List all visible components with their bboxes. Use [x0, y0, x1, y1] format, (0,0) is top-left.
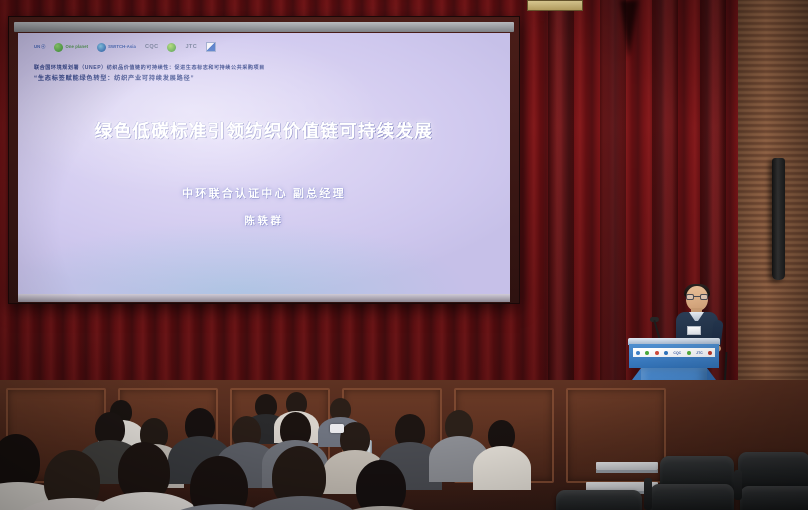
podium-logo-mark-1 [636, 351, 640, 355]
audience-member [246, 496, 358, 510]
podium-logo-mark-3 [655, 351, 659, 355]
audience-member [92, 492, 200, 510]
unep-logo-label: UN ⓔ [34, 45, 45, 49]
presenter-name-badge [687, 326, 701, 335]
podium-logo-mark-5 [687, 351, 691, 355]
projection-screen-top-bar [14, 22, 514, 32]
auditorium-seat [740, 486, 808, 510]
cqc-logo-label: CQC [145, 44, 158, 50]
auditorium-seat [556, 490, 642, 510]
seat-armrest [734, 470, 742, 500]
audience-member [473, 446, 531, 490]
auditorium-seat [650, 484, 734, 510]
slide-speaker-organization: 中环联合认证中心 副总经理 [18, 185, 510, 201]
seat-desk-tray [596, 462, 658, 470]
seat-armrest [644, 478, 652, 510]
podium-logo-jtc-label: JTC [696, 351, 703, 355]
eyeglass-lens-left [686, 294, 694, 300]
podium-logo-mark-6 [708, 351, 712, 355]
jtc-logo-label: JTC [185, 44, 197, 50]
un-environment-programme-logo: UN ⓔ [34, 45, 45, 49]
hair-clip [330, 424, 344, 433]
wall-speaker-icon [772, 158, 785, 280]
audience [0, 372, 600, 510]
switch-asia-logo: SWITCH-Asia [97, 43, 136, 52]
switch-asia-globe-icon [97, 43, 106, 52]
projection-screen-surface: UN ⓔ One planet SWITCH-Asia CQC JTC 联合国环… [18, 33, 510, 296]
eyeglasses-icon [686, 294, 708, 300]
one-planet-network-logo: One planet [54, 43, 88, 52]
switch-asia-logo-label: SWITCH-Asia [108, 45, 136, 49]
audience-member [356, 460, 406, 510]
wall-plaque [527, 0, 583, 11]
podium-logo-mark-4 [664, 351, 668, 355]
slide-main-title: 绿色低碳标准引领纺织价值链可持续发展 [18, 118, 510, 143]
podium-logo-band: CQC JTC [633, 348, 715, 357]
eyeglass-lens-right [700, 294, 708, 300]
conference-photo-scene: UN ⓔ One planet SWITCH-Asia CQC JTC 联合国环… [0, 0, 808, 510]
one-planet-mark-icon [54, 43, 63, 52]
podium-logo-mark-2 [645, 351, 649, 355]
slide-subtitle-line-1: 联合国环境规划署（UNEP）纺织品价值链的可持续性：促进生态标志和可持续公共采购… [34, 64, 265, 71]
partner-square-logo-icon [206, 42, 216, 52]
seat-desk-edge [596, 470, 658, 473]
slide-logo-row: UN ⓔ One planet SWITCH-Asia CQC JTC [34, 42, 216, 52]
one-planet-logo-label: One planet [65, 45, 88, 49]
podium-logo-cqc-label: CQC [673, 351, 681, 355]
slide-speaker-name: 陈轶群 [18, 213, 510, 228]
slide-subtitle-line-2: “生态标签赋能绿色转型：纺织产业可持续发展路径” [34, 73, 194, 82]
projection-screen-bottom-edge [18, 294, 510, 302]
green-certification-mark-icon [167, 43, 176, 52]
